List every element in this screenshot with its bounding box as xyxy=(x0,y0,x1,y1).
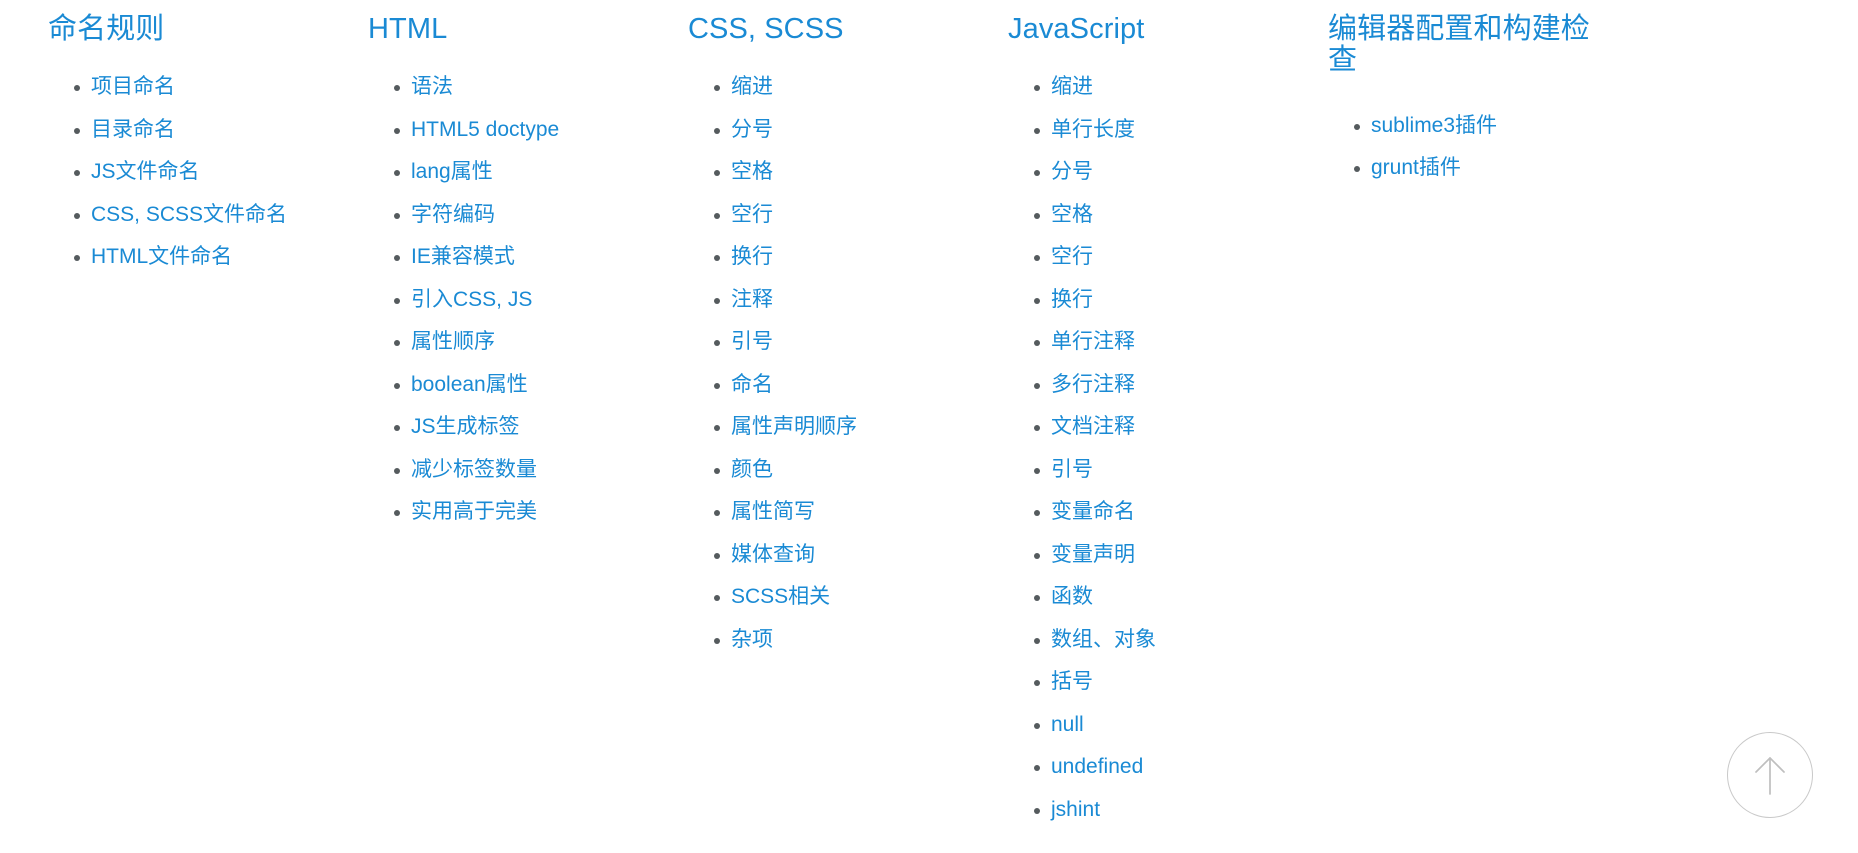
list-item: 引号 xyxy=(688,324,952,361)
link-item-js-brackets[interactable]: 括号 xyxy=(1051,670,1093,693)
column-title-link-javascript[interactable]: JavaScript xyxy=(1008,13,1144,45)
link-item-misc[interactable]: 杂项 xyxy=(731,628,773,651)
list-item: 单行长度 xyxy=(1008,112,1272,149)
link-item-js-semicolon[interactable]: 分号 xyxy=(1051,160,1093,183)
link-item-css-scss-file-naming[interactable]: CSS, SCSS文件命名 xyxy=(91,203,287,226)
list-item: 分号 xyxy=(1008,154,1272,191)
link-item-syntax[interactable]: 语法 xyxy=(411,75,453,98)
link-item-property-shorthand[interactable]: 属性简写 xyxy=(731,500,815,523)
column-title: 编辑器配置和构建检查 xyxy=(1328,14,1602,77)
link-item-naming[interactable]: 命名 xyxy=(731,373,773,396)
list-item: 杂项 xyxy=(688,622,952,659)
link-item-js-quotes[interactable]: 引号 xyxy=(1051,458,1093,481)
list-item: SCSS相关 xyxy=(688,579,952,616)
list-item: 字符编码 xyxy=(368,197,632,234)
list-item: undefined xyxy=(1008,749,1272,786)
link-item-html5-doctype[interactable]: HTML5 doctype xyxy=(411,118,559,141)
link-item-js-jshint[interactable]: jshint xyxy=(1051,798,1100,821)
link-item-line-break[interactable]: 换行 xyxy=(731,245,773,268)
link-item-js-generated-tags[interactable]: JS生成标签 xyxy=(411,415,520,438)
list-item: 项目命名 xyxy=(48,69,312,106)
column-title-link-html[interactable]: HTML xyxy=(368,13,447,45)
list-item: 单行注释 xyxy=(1008,324,1272,361)
list-item: null xyxy=(1008,707,1272,744)
back-to-top-button[interactable] xyxy=(1727,732,1813,818)
link-item-project-naming[interactable]: 项目命名 xyxy=(91,75,175,98)
link-item-js-indent[interactable]: 缩进 xyxy=(1051,75,1093,98)
list-item: 空行 xyxy=(688,197,952,234)
link-item-js-line-break[interactable]: 换行 xyxy=(1051,288,1093,311)
list-item: 空格 xyxy=(1008,197,1272,234)
list-item: 多行注释 xyxy=(1008,367,1272,404)
column-title: HTML xyxy=(368,14,632,45)
list-item: JS生成标签 xyxy=(368,409,632,446)
column-title-link-naming-rules[interactable]: 命名规则 xyxy=(48,13,164,45)
link-item-lang-attribute[interactable]: lang属性 xyxy=(411,160,493,183)
column-list-css-scss: 缩进 分号 空格 空行 换行 注释 引号 命名 属性声明顺序 颜色 属性简写 媒… xyxy=(688,69,952,658)
link-item-semicolon[interactable]: 分号 xyxy=(731,118,773,141)
list-item: 属性顺序 xyxy=(368,324,632,361)
list-item: 语法 xyxy=(368,69,632,106)
list-item: 换行 xyxy=(1008,282,1272,319)
list-item: boolean属性 xyxy=(368,367,632,404)
column-editor-config-build-check: 编辑器配置和构建检查 sublime3插件 grunt插件 xyxy=(1280,14,1610,193)
list-item: 函数 xyxy=(1008,579,1272,616)
list-item: HTML文件命名 xyxy=(48,239,312,276)
list-item: 空格 xyxy=(688,154,952,191)
link-item-color[interactable]: 颜色 xyxy=(731,458,773,481)
arrow-up-icon xyxy=(1751,753,1789,797)
list-item: 引号 xyxy=(1008,452,1272,489)
link-item-boolean-attribute[interactable]: boolean属性 xyxy=(411,373,528,396)
list-item: grunt插件 xyxy=(1328,150,1602,187)
list-item: 颜色 xyxy=(688,452,952,489)
link-item-js-variable-declaration[interactable]: 变量声明 xyxy=(1051,543,1135,566)
column-naming-rules: 命名规则 项目命名 目录命名 JS文件命名 CSS, SCSS文件命名 HTML… xyxy=(0,14,320,282)
column-list-editor-config: sublime3插件 grunt插件 xyxy=(1328,108,1602,187)
link-item-js-variable-naming[interactable]: 变量命名 xyxy=(1051,500,1135,523)
column-title: CSS, SCSS xyxy=(688,14,952,45)
column-javascript: JavaScript 缩进 单行长度 分号 空格 空行 换行 单行注释 多行注释… xyxy=(960,14,1280,834)
column-title: JavaScript xyxy=(1008,14,1272,45)
link-item-reduce-tags[interactable]: 减少标签数量 xyxy=(411,458,537,481)
link-item-directory-naming[interactable]: 目录命名 xyxy=(91,118,175,141)
link-item-ie-compat-mode[interactable]: IE兼容模式 xyxy=(411,245,515,268)
link-item-js-multi-line-comment[interactable]: 多行注释 xyxy=(1051,373,1135,396)
list-item: 注释 xyxy=(688,282,952,319)
list-item: 变量声明 xyxy=(1008,537,1272,574)
list-item: sublime3插件 xyxy=(1328,108,1602,145)
column-html: HTML 语法 HTML5 doctype lang属性 字符编码 IE兼容模式… xyxy=(320,14,640,537)
link-item-js-blank-line[interactable]: 空行 xyxy=(1051,245,1093,268)
list-item: CSS, SCSS文件命名 xyxy=(48,197,312,234)
link-item-js-space[interactable]: 空格 xyxy=(1051,203,1093,226)
link-item-comment[interactable]: 注释 xyxy=(731,288,773,311)
link-item-indent[interactable]: 缩进 xyxy=(731,75,773,98)
column-css-scss: CSS, SCSS 缩进 分号 空格 空行 换行 注释 引号 命名 属性声明顺序… xyxy=(640,14,960,664)
link-item-space[interactable]: 空格 xyxy=(731,160,773,183)
column-list-naming-rules: 项目命名 目录命名 JS文件命名 CSS, SCSS文件命名 HTML文件命名 xyxy=(48,69,312,276)
list-item: IE兼容模式 xyxy=(368,239,632,276)
list-item: jshint xyxy=(1008,792,1272,829)
column-list-javascript: 缩进 单行长度 分号 空格 空行 换行 单行注释 多行注释 文档注释 引号 变量… xyxy=(1008,69,1272,828)
link-item-js-function[interactable]: 函数 xyxy=(1051,585,1093,608)
list-item: 括号 xyxy=(1008,664,1272,701)
link-item-js-undefined[interactable]: undefined xyxy=(1051,755,1143,778)
column-title-link-editor-config[interactable]: 编辑器配置和构建检查 xyxy=(1328,13,1590,76)
list-item: 换行 xyxy=(688,239,952,276)
link-item-practical-over-perfect[interactable]: 实用高于完美 xyxy=(411,500,537,523)
link-item-media-query[interactable]: 媒体查询 xyxy=(731,543,815,566)
link-item-scss-related[interactable]: SCSS相关 xyxy=(731,585,830,608)
list-item: 目录命名 xyxy=(48,112,312,149)
page-root: 命名规则 项目命名 目录命名 JS文件命名 CSS, SCSS文件命名 HTML… xyxy=(0,0,1858,853)
link-item-charset[interactable]: 字符编码 xyxy=(411,203,495,226)
list-item: 实用高于完美 xyxy=(368,494,632,531)
list-item: 减少标签数量 xyxy=(368,452,632,489)
list-item: 引入CSS, JS xyxy=(368,282,632,319)
link-item-js-array-object[interactable]: 数组、对象 xyxy=(1051,628,1156,651)
link-item-attribute-order[interactable]: 属性顺序 xyxy=(411,330,495,353)
link-item-quotes[interactable]: 引号 xyxy=(731,330,773,353)
list-item: 媒体查询 xyxy=(688,537,952,574)
list-item: 命名 xyxy=(688,367,952,404)
link-item-property-declaration-order[interactable]: 属性声明顺序 xyxy=(731,415,857,438)
list-item: 变量命名 xyxy=(1008,494,1272,531)
list-item: HTML5 doctype xyxy=(368,112,632,149)
list-item: 缩进 xyxy=(688,69,952,106)
list-item: 文档注释 xyxy=(1008,409,1272,446)
list-item: 分号 xyxy=(688,112,952,149)
link-item-js-single-line-comment[interactable]: 单行注释 xyxy=(1051,330,1135,353)
column-list-html: 语法 HTML5 doctype lang属性 字符编码 IE兼容模式 引入CS… xyxy=(368,69,632,531)
link-item-js-file-naming[interactable]: JS文件命名 xyxy=(91,160,200,183)
column-title: 命名规则 xyxy=(48,14,312,45)
link-item-blank-line[interactable]: 空行 xyxy=(731,203,773,226)
link-item-include-css-js[interactable]: 引入CSS, JS xyxy=(411,288,532,311)
list-item: 属性声明顺序 xyxy=(688,409,952,446)
list-item: 数组、对象 xyxy=(1008,622,1272,659)
list-item: 缩进 xyxy=(1008,69,1272,106)
list-item: 属性简写 xyxy=(688,494,952,531)
link-item-html-file-naming[interactable]: HTML文件命名 xyxy=(91,245,232,268)
link-item-js-line-length[interactable]: 单行长度 xyxy=(1051,118,1135,141)
index-columns: 命名规则 项目命名 目录命名 JS文件命名 CSS, SCSS文件命名 HTML… xyxy=(0,0,1858,834)
list-item: lang属性 xyxy=(368,154,632,191)
link-item-js-doc-comment[interactable]: 文档注释 xyxy=(1051,415,1135,438)
link-item-js-null[interactable]: null xyxy=(1051,713,1084,736)
column-title-link-css-scss[interactable]: CSS, SCSS xyxy=(688,13,844,45)
link-item-sublime3-plugin[interactable]: sublime3插件 xyxy=(1371,114,1497,137)
list-item: 空行 xyxy=(1008,239,1272,276)
list-item: JS文件命名 xyxy=(48,154,312,191)
link-item-grunt-plugin[interactable]: grunt插件 xyxy=(1371,156,1461,179)
